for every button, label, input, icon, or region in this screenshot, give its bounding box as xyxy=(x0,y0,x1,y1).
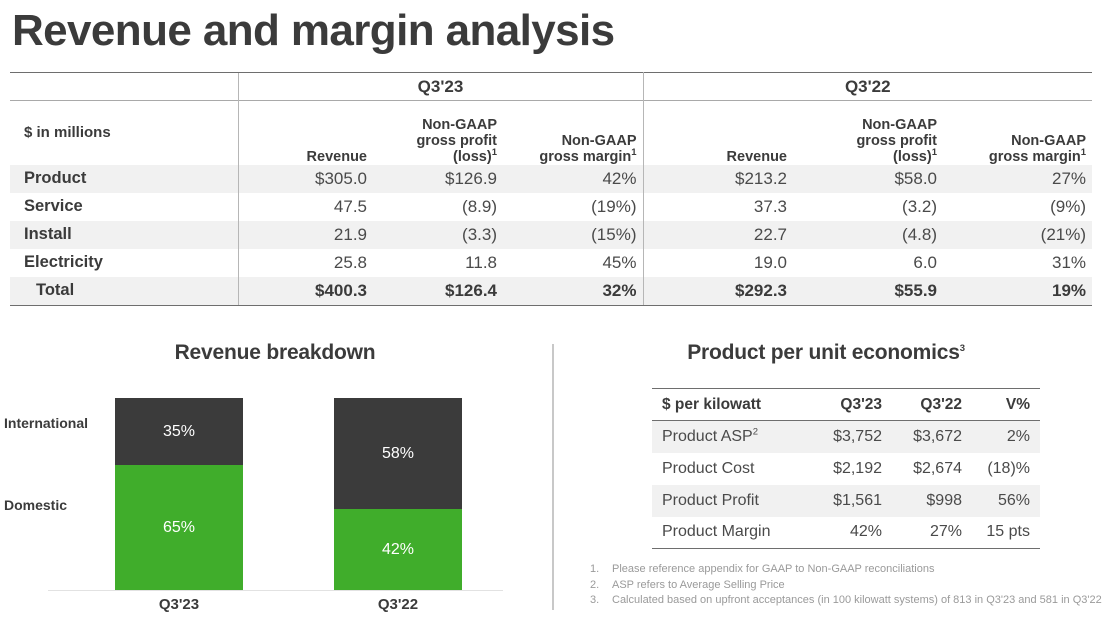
footnote-number: 1. xyxy=(590,562,612,578)
table-row: Electricity 25.8 11.8 45% 19.0 6.0 31% xyxy=(10,249,1092,277)
cell-install-q322-gross-margin: (21%) xyxy=(943,221,1092,249)
column-header-text: Revenue xyxy=(727,149,787,165)
row-label-install: Install xyxy=(10,221,238,249)
cell-electricity-q323-gross-margin: 45% xyxy=(503,249,643,277)
econ-cell-asp-q322: $3,672 xyxy=(892,421,972,453)
econ-cell-asp-q323: $3,752 xyxy=(812,421,892,453)
cell-product-q323-gross-profit: $126.9 xyxy=(373,165,503,193)
panel-divider xyxy=(552,344,554,610)
footnote-item: 2. ASP refers to Average Selling Price xyxy=(590,578,1105,594)
cell-total-q322-gross-margin: 19% xyxy=(943,277,1092,305)
econ-cell-asp-variance: 2% xyxy=(972,421,1040,453)
footnote-text: ASP refers to Average Selling Price xyxy=(612,578,785,594)
footnote-item: 1. Please reference appendix for GAAP to… xyxy=(590,562,1105,578)
econ-cell-profit-q323: $1,561 xyxy=(812,485,892,517)
cell-product-q322-revenue: $213.2 xyxy=(643,165,793,193)
column-header-q322-gross-profit: Non-GAAPgross profit(loss)1 xyxy=(793,101,943,165)
table-row-total: Total $400.3 $126.4 32% $292.3 $55.9 19% xyxy=(10,277,1092,305)
cell-install-q322-gross-profit: (4.8) xyxy=(793,221,943,249)
table-row: Product $305.0 $126.9 42% $213.2 $58.0 2… xyxy=(10,165,1092,193)
x-axis-tick-q322: Q3'22 xyxy=(334,596,462,613)
econ-row-label-product-margin: Product Margin xyxy=(652,517,812,549)
table-row: Install 21.9 (3.3) (15%) 22.7 (4.8) (21%… xyxy=(10,221,1092,249)
econ-cell-cost-q322: $2,674 xyxy=(892,453,972,485)
econ-cell-profit-variance: 56% xyxy=(972,485,1040,517)
econ-row-label-product-cost: Product Cost xyxy=(652,453,812,485)
econ-cell-margin-q323: 42% xyxy=(812,517,892,549)
cell-total-q323-revenue: $400.3 xyxy=(238,277,373,305)
cell-service-q322-gross-profit: (3.2) xyxy=(793,193,943,221)
cell-product-q323-gross-margin: 42% xyxy=(503,165,643,193)
cell-electricity-q322-gross-profit: 6.0 xyxy=(793,249,943,277)
cell-install-q323-gross-profit: (3.3) xyxy=(373,221,503,249)
revenue-margin-table-container: Q3'23 Q3'22 $ in millions Revenue Non-GA… xyxy=(10,72,1092,306)
cell-service-q322-gross-margin: (9%) xyxy=(943,193,1092,221)
econ-cell-margin-q322: 27% xyxy=(892,517,972,549)
cell-install-q322-revenue: 22.7 xyxy=(643,221,793,249)
cell-service-q323-revenue: 47.5 xyxy=(238,193,373,221)
cell-total-q323-gross-profit: $126.4 xyxy=(373,277,503,305)
row-label-electricity: Electricity xyxy=(10,249,238,277)
bar-value-label: 35% xyxy=(163,423,195,441)
cell-total-q322-gross-profit: $55.9 xyxy=(793,277,943,305)
econ-cell-margin-variance: 15 pts xyxy=(972,517,1040,549)
footnote-text: Calculated based on upfront acceptances … xyxy=(612,593,1102,609)
cell-service-q323-gross-profit: (8.9) xyxy=(373,193,503,221)
econ-title-text: Product per unit economics xyxy=(687,341,960,364)
econ-title: Product per unit economics3 xyxy=(556,341,1096,365)
bar-segment-international: 58% xyxy=(334,398,462,509)
econ-cell-cost-variance: (18)% xyxy=(972,453,1040,485)
group-header-q323: Q3'23 xyxy=(238,73,643,101)
econ-table-row: Product ASP2 $3,752 $3,672 2% xyxy=(652,421,1040,453)
row-label-total: Total xyxy=(10,277,238,305)
column-header-q323-revenue: Revenue xyxy=(238,101,373,165)
revenue-margin-table: Q3'23 Q3'22 $ in millions Revenue Non-GA… xyxy=(10,72,1092,306)
page-title: Revenue and margin analysis xyxy=(12,2,615,60)
cell-electricity-q322-gross-margin: 31% xyxy=(943,249,1092,277)
column-header-q323-gross-margin: Non-GAAPgross margin1 xyxy=(503,101,643,165)
footnote-marker-1: 1 xyxy=(1081,147,1086,158)
x-axis-tick-q323: Q3'23 xyxy=(115,596,243,613)
bar-segment-international: 35% xyxy=(115,398,243,465)
econ-header-row: $ per kilowatt Q3'23 Q3'22 V% xyxy=(652,389,1040,421)
group-header-q322: Q3'22 xyxy=(643,73,1092,101)
column-header-q322-gross-margin: Non-GAAPgross margin1 xyxy=(943,101,1092,165)
footnotes: 1. Please reference appendix for GAAP to… xyxy=(590,562,1105,609)
econ-column-header-unit: $ per kilowatt xyxy=(652,389,812,421)
footnote-text: Please reference appendix for GAAP to No… xyxy=(612,562,934,578)
footnote-marker-2: 2 xyxy=(753,426,758,437)
econ-table-row: Product Cost $2,192 $2,674 (18)% xyxy=(652,453,1040,485)
column-header-q322-revenue: Revenue xyxy=(643,101,793,165)
footnote-number: 2. xyxy=(590,578,612,594)
footnote-marker-1: 1 xyxy=(631,147,636,158)
footnote-number: 3. xyxy=(590,593,612,609)
cell-total-q322-revenue: $292.3 xyxy=(643,277,793,305)
cell-install-q323-revenue: 21.9 xyxy=(238,221,373,249)
legend-label-international: International xyxy=(4,415,88,431)
bar-segment-domestic: 42% xyxy=(334,509,462,590)
footnote-marker-3: 3 xyxy=(960,343,965,354)
econ-table-row: Product Margin 42% 27% 15 pts xyxy=(652,517,1040,549)
cell-electricity-q322-revenue: 19.0 xyxy=(643,249,793,277)
column-header-text: Revenue xyxy=(307,149,367,165)
table-row: Service 47.5 (8.9) (19%) 37.3 (3.2) (9%) xyxy=(10,193,1092,221)
revenue-breakdown-chart: Revenue breakdown xyxy=(0,336,550,623)
column-header-q323-gross-profit: Non-GAAPgross profit(loss)1 xyxy=(373,101,503,165)
group-header-spacer xyxy=(10,73,238,101)
cell-total-q323-gross-margin: 32% xyxy=(503,277,643,305)
legend-label-domestic: Domestic xyxy=(4,497,67,513)
row-label-product: Product xyxy=(10,165,238,193)
table-group-header-row: Q3'23 Q3'22 xyxy=(10,73,1092,101)
footnote-item: 3. Calculated based on upfront acceptanc… xyxy=(590,593,1105,609)
row-label-service: Service xyxy=(10,193,238,221)
econ-column-header-q322: Q3'22 xyxy=(892,389,972,421)
table-column-header-row: $ in millions Revenue Non-GAAPgross prof… xyxy=(10,101,1092,165)
bar-segment-domestic: 65% xyxy=(115,465,243,590)
column-header-units: $ in millions xyxy=(10,101,238,165)
cell-electricity-q323-gross-profit: 11.8 xyxy=(373,249,503,277)
bar-value-label: 42% xyxy=(382,541,414,559)
cell-install-q323-gross-margin: (15%) xyxy=(503,221,643,249)
cell-electricity-q323-revenue: 25.8 xyxy=(238,249,373,277)
econ-column-header-q323: Q3'23 xyxy=(812,389,892,421)
econ-row-label-product-asp: Product ASP2 xyxy=(652,421,812,453)
cell-service-q323-gross-margin: (19%) xyxy=(503,193,643,221)
econ-cell-cost-q323: $2,192 xyxy=(812,453,892,485)
cell-product-q322-gross-profit: $58.0 xyxy=(793,165,943,193)
unit-economics-table: $ per kilowatt Q3'23 Q3'22 V% Product AS… xyxy=(652,388,1040,549)
chart-axis-line xyxy=(48,590,503,591)
cell-product-q322-gross-margin: 27% xyxy=(943,165,1092,193)
econ-row-label-product-profit: Product Profit xyxy=(652,485,812,517)
econ-cell-profit-q322: $998 xyxy=(892,485,972,517)
rule xyxy=(10,305,1092,306)
table-bottom-rule xyxy=(10,305,1092,306)
cell-service-q322-revenue: 37.3 xyxy=(643,193,793,221)
cell-product-q323-revenue: $305.0 xyxy=(238,165,373,193)
bar-value-label: 58% xyxy=(382,445,414,463)
econ-table-row: Product Profit $1,561 $998 56% xyxy=(652,485,1040,517)
slide-root: Revenue and margin analysis Q3'23 Q3'22 … xyxy=(0,0,1105,623)
econ-row-label-text: Product ASP xyxy=(662,428,753,445)
chart-title: Revenue breakdown xyxy=(0,341,550,365)
econ-column-header-variance: V% xyxy=(972,389,1040,421)
footnote-marker-1: 1 xyxy=(932,147,937,158)
footnote-marker-1: 1 xyxy=(492,147,497,158)
bar-value-label: 65% xyxy=(163,519,195,537)
